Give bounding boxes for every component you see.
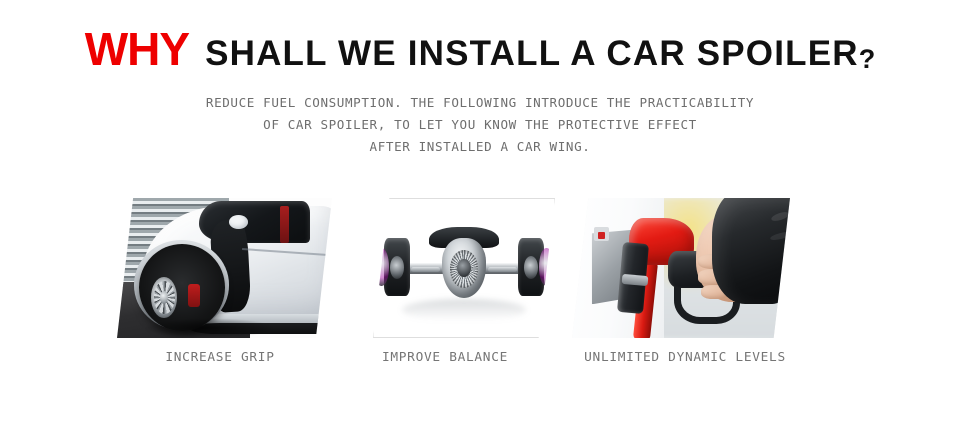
axle-assembly — [384, 237, 544, 299]
axle-assembly-photo — [373, 198, 555, 338]
car-rim — [151, 277, 177, 318]
sleeve-fold-1 — [771, 210, 790, 222]
filler-red-marker — [598, 232, 605, 239]
subtitle-line-2: OF CAR SPOILER, TO LET YOU KNOW THE PROT… — [0, 114, 960, 136]
axle-link-right — [488, 267, 517, 273]
car-interior-red-accent — [280, 206, 289, 242]
promo-banner: WHYSHALL WE INSTALL A CAR SPOILER? REDUC… — [0, 0, 960, 439]
feature-image-improve-balance — [373, 198, 555, 338]
feature-image-increase-grip — [117, 198, 332, 338]
car-ground-shadow — [143, 318, 276, 338]
refuelling-photo — [572, 198, 790, 338]
headline-main-text: SHALL WE INSTALL A CAR SPOILER — [205, 34, 859, 73]
axle-link-left — [411, 267, 440, 273]
sleeve-fold-2 — [769, 230, 790, 241]
knuckle-bore-right — [524, 256, 538, 279]
axle-reflection — [402, 299, 526, 321]
wheel-hub-right — [539, 248, 553, 286]
tile-border-top — [389, 198, 555, 199]
differential-housing — [442, 238, 487, 297]
feature-captions: INCREASE GRIP IMPROVE BALANCE UNLIMITED … — [0, 350, 960, 370]
brake-caliper — [188, 284, 200, 307]
caption-improve-balance: IMPROVE BALANCE — [345, 350, 545, 365]
subtitle-block: REDUCE FUEL CONSUMPTION. THE FOLLOWING I… — [0, 92, 960, 158]
jacket-sleeve — [712, 198, 790, 304]
caption-unlimited-dynamic-levels: UNLIMITED DYNAMIC LEVELS — [540, 350, 830, 365]
headline-question-mark: ? — [859, 44, 876, 74]
knuckle-bore-left — [390, 256, 404, 279]
headline-emphasis: WHY — [85, 23, 189, 75]
wheel-hub-left — [374, 248, 388, 286]
page-title: WHYSHALL WE INSTALL A CAR SPOILER? — [0, 26, 960, 72]
tile-border-bottom — [373, 337, 539, 338]
feature-image-strip — [0, 198, 960, 338]
subtitle-line-3: AFTER INSTALLED A CAR WING. — [0, 136, 960, 158]
subtitle-line-1: REDUCE FUEL CONSUMPTION. THE FOLLOWING I… — [0, 92, 960, 114]
sports-car-photo — [117, 198, 332, 338]
caption-increase-grip: INCREASE GRIP — [105, 350, 335, 365]
car-fuel-cap — [229, 215, 248, 229]
feature-image-unlimited-dynamic-levels — [572, 198, 790, 338]
headline-main: SHALL WE INSTALL A CAR SPOILER? — [205, 34, 875, 73]
